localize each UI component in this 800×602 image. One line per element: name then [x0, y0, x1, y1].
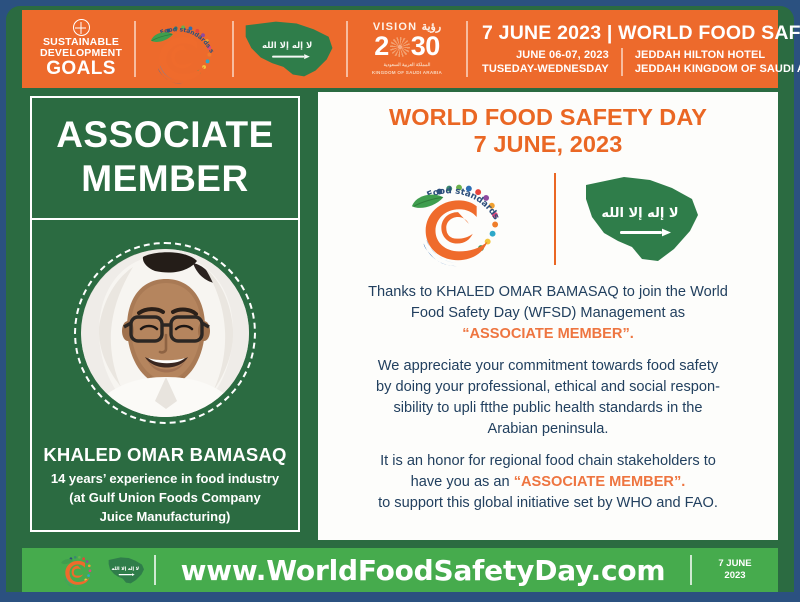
svg-text:لا إله إلا الله: لا إله إلا الله	[601, 206, 678, 221]
p2-line1: We appreciate your commitment towards fo…	[334, 356, 762, 377]
paragraph-3: It is an honor for regional food chain s…	[334, 451, 762, 514]
member-card-left: ASSOCIATE MEMBER	[22, 92, 308, 540]
website-url[interactable]: www.WorldFoodSafetyDay.com	[156, 554, 690, 587]
bottom-border-strip	[0, 592, 800, 602]
saudi-arabia-map-icon: لا إله إلا الله	[234, 14, 346, 84]
event-venue-line1: JEDDAH HILTON HOTEL	[635, 48, 800, 62]
saudi-arabia-map-icon: لا إله إلا الله	[106, 553, 146, 587]
wfsd-emblem-icon: Food standards save lives	[136, 13, 232, 85]
vision-sub-arabic: المملكة العربية السعودية	[372, 62, 442, 68]
member-sub-line3: Juice Manufacturing)	[36, 507, 294, 526]
member-sub-line1: 14 years’ experience in food industry	[36, 469, 294, 488]
event-venue-line2: JEDDAH KINGDOM OF SAUDI ARABIA	[635, 62, 800, 76]
vision-num-left: 2	[374, 33, 389, 60]
sdg-logo: SUSTAINABLE DEVELOPMENT GOALS	[22, 10, 134, 88]
svg-text:Food standards save lives: Food standards save lives	[393, 167, 501, 222]
member-details: KHALED OMAR BAMASAQ 14 years’ experience…	[36, 444, 294, 526]
p2-line3: sibility to upli ftthe public health sta…	[334, 398, 762, 419]
svg-text:لا إله إلا الله: لا إله إلا الله	[112, 566, 140, 572]
event-info: 7 JUNE 2023 | WORLD FOOD SAFETY DAY JUNE…	[468, 22, 800, 76]
p1-line1: Thanks to KHALED OMAR BAMASAQ to join th…	[334, 282, 762, 303]
svg-text:لا إله إلا الله: لا إله إلا الله	[262, 40, 312, 50]
event-venue: JEDDAH HILTON HOTEL JEDDAH KINGDOM OF SA…	[621, 48, 800, 76]
member-portrait	[81, 249, 249, 417]
message-body: Thanks to KHALED OMAR BAMASAQ to join th…	[334, 282, 762, 514]
wfsd-title-line1: WORLD FOOD SAFETY DAY	[334, 104, 762, 131]
message-panel-right: WORLD FOOD SAFETY DAY 7 JUNE, 2023	[318, 92, 778, 540]
footer-date: 7 JUNE 2023	[692, 558, 778, 582]
un-emblem-icon	[73, 19, 90, 36]
vision-sub-latin: KINGDOM OF SAUDI ARABIA	[372, 70, 442, 76]
title-line2: MEMBER	[81, 157, 248, 201]
wfsd-title: WORLD FOOD SAFETY DAY 7 JUNE, 2023	[334, 104, 762, 158]
footer-date-line1: 7 JUNE	[692, 558, 778, 570]
p3-line3: to support this global initiative set by…	[334, 493, 762, 514]
event-dates: JUNE 06-07, 2023 TUSEDAY-WEDNESDAY	[482, 48, 609, 76]
p2-line4: Arabian peninsula.	[334, 419, 762, 440]
member-name: KHALED OMAR BAMASAQ	[36, 444, 294, 466]
paragraph-1: Thanks to KHALED OMAR BAMASAQ to join th…	[334, 282, 762, 345]
p1-highlight: “ASSOCIATE MEMBER”.	[334, 324, 762, 345]
footer-date-line2: 2023	[692, 570, 778, 582]
p3-line2-highlight: “ASSOCIATE MEMBER”.	[514, 474, 686, 490]
p3-line1: It is an honor for regional food chain s…	[334, 451, 762, 472]
wfsd-emblem-icon: Food standards save lives	[384, 167, 536, 271]
vision-ornament-icon	[390, 37, 410, 57]
wfsd-emblem-icon	[56, 551, 100, 589]
sdg-line3: GOALS	[40, 59, 122, 79]
footer-bar: لا إله إلا الله www.WorldFoodSafetyDay.c…	[22, 548, 778, 592]
event-headline: 7 JUNE 2023 | WORLD FOOD SAFETY DAY	[482, 22, 800, 45]
associate-member-title: ASSOCIATE MEMBER	[30, 96, 300, 220]
member-sub-line2: (at Gulf Union Foods Company	[36, 488, 294, 507]
vision-2030-icon: VISION رؤية 2 30 المملكة العربية السعودي…	[348, 10, 466, 88]
emblem-tagline: Food standards save lives	[393, 167, 501, 222]
p2-line2: by doing your professional, ethical and …	[334, 377, 762, 398]
member-photo-wrap	[22, 242, 308, 424]
wfsd-title-line2: 7 JUNE, 2023	[334, 131, 762, 158]
member-sub: 14 years’ experience in food industry (a…	[36, 469, 294, 526]
saudi-arabia-map-icon: لا إله إلا الله	[574, 169, 712, 269]
event-date-line2: TUSEDAY-WEDNESDAY	[482, 62, 609, 76]
poster-canvas: SUSTAINABLE DEVELOPMENT GOALS	[0, 0, 800, 602]
divider	[554, 173, 556, 265]
p3-line2-prefix: have you as an	[411, 474, 514, 490]
vision-num-right: 30	[411, 33, 440, 60]
photo-dashed-ring	[74, 242, 256, 424]
title-line1: ASSOCIATE	[56, 113, 274, 157]
paragraph-2: We appreciate your commitment towards fo…	[334, 356, 762, 440]
logos-row: Food standards save lives لا إله إلا الل…	[334, 166, 762, 272]
p3-line2: have you as an “ASSOCIATE MEMBER”.	[334, 472, 762, 493]
event-date-line1: JUNE 06-07, 2023	[482, 48, 609, 62]
header-bar: SUSTAINABLE DEVELOPMENT GOALS	[22, 10, 778, 88]
p1-line2: Food Safety Day (WFSD) Management as	[334, 303, 762, 324]
